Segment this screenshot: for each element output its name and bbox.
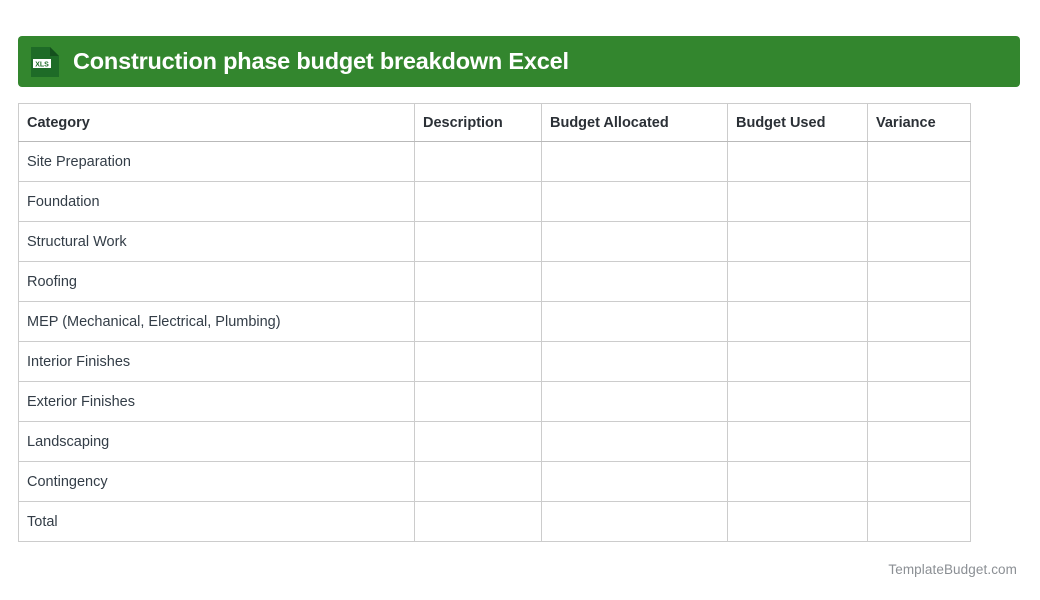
cell-budget-allocated[interactable]: [542, 462, 728, 502]
table-row: Contingency: [19, 462, 971, 502]
cell-description[interactable]: [415, 502, 542, 542]
document-header-banner: XLS Construction phase budget breakdown …: [18, 36, 1020, 87]
cell-variance[interactable]: [868, 422, 971, 462]
cell-category[interactable]: Exterior Finishes: [19, 382, 415, 422]
cell-budget-allocated[interactable]: [542, 422, 728, 462]
table-row: Exterior Finishes: [19, 382, 971, 422]
cell-variance[interactable]: [868, 182, 971, 222]
cell-variance[interactable]: [868, 262, 971, 302]
cell-budget-allocated[interactable]: [542, 302, 728, 342]
cell-description[interactable]: [415, 462, 542, 502]
column-header-category: Category: [19, 104, 415, 142]
cell-category[interactable]: Foundation: [19, 182, 415, 222]
column-header-variance: Variance: [868, 104, 971, 142]
cell-variance[interactable]: [868, 502, 971, 542]
table-body: Site Preparation Foundation Structural W…: [19, 142, 971, 542]
cell-category[interactable]: Total: [19, 502, 415, 542]
cell-budget-used[interactable]: [728, 342, 868, 382]
table-row: Interior Finishes: [19, 342, 971, 382]
table-header-row: Category Description Budget Allocated Bu…: [19, 104, 971, 142]
cell-budget-used[interactable]: [728, 222, 868, 262]
cell-category[interactable]: Site Preparation: [19, 142, 415, 182]
table-header: Category Description Budget Allocated Bu…: [19, 104, 971, 142]
cell-budget-allocated[interactable]: [542, 262, 728, 302]
cell-budget-used[interactable]: [728, 462, 868, 502]
table-row: Roofing: [19, 262, 971, 302]
cell-budget-used[interactable]: [728, 142, 868, 182]
cell-description[interactable]: [415, 262, 542, 302]
cell-description[interactable]: [415, 222, 542, 262]
cell-description[interactable]: [415, 342, 542, 382]
cell-description[interactable]: [415, 182, 542, 222]
page-title: Construction phase budget breakdown Exce…: [73, 50, 569, 74]
table-row: Foundation: [19, 182, 971, 222]
cell-description[interactable]: [415, 422, 542, 462]
cell-variance[interactable]: [868, 462, 971, 502]
cell-budget-used[interactable]: [728, 422, 868, 462]
cell-variance[interactable]: [868, 342, 971, 382]
cell-variance[interactable]: [868, 302, 971, 342]
cell-category[interactable]: Interior Finishes: [19, 342, 415, 382]
cell-description[interactable]: [415, 382, 542, 422]
column-header-budget-used: Budget Used: [728, 104, 868, 142]
cell-budget-used[interactable]: [728, 382, 868, 422]
cell-budget-used[interactable]: [728, 182, 868, 222]
cell-variance[interactable]: [868, 142, 971, 182]
cell-variance[interactable]: [868, 222, 971, 262]
footer-brand: TemplateBudget.com: [888, 562, 1017, 577]
column-header-description: Description: [415, 104, 542, 142]
cell-description[interactable]: [415, 142, 542, 182]
cell-budget-used[interactable]: [728, 502, 868, 542]
cell-budget-allocated[interactable]: [542, 142, 728, 182]
table-row: Landscaping: [19, 422, 971, 462]
column-header-budget-allocated: Budget Allocated: [542, 104, 728, 142]
template-page: XLS Construction phase budget breakdown …: [0, 0, 1040, 600]
table-row: MEP (Mechanical, Electrical, Plumbing): [19, 302, 971, 342]
cell-description[interactable]: [415, 302, 542, 342]
table-row: Site Preparation: [19, 142, 971, 182]
svg-text:XLS: XLS: [35, 61, 49, 68]
xls-file-icon: XLS: [30, 46, 60, 78]
cell-budget-used[interactable]: [728, 302, 868, 342]
cell-budget-allocated[interactable]: [542, 182, 728, 222]
cell-budget-allocated[interactable]: [542, 342, 728, 382]
cell-variance[interactable]: [868, 382, 971, 422]
cell-budget-allocated[interactable]: [542, 382, 728, 422]
cell-category[interactable]: Landscaping: [19, 422, 415, 462]
cell-budget-allocated[interactable]: [542, 502, 728, 542]
table-row-total: Total: [19, 502, 971, 542]
cell-category[interactable]: Structural Work: [19, 222, 415, 262]
cell-category[interactable]: MEP (Mechanical, Electrical, Plumbing): [19, 302, 415, 342]
table-row: Structural Work: [19, 222, 971, 262]
budget-breakdown-table: Category Description Budget Allocated Bu…: [18, 103, 971, 542]
cell-budget-used[interactable]: [728, 262, 868, 302]
cell-budget-allocated[interactable]: [542, 222, 728, 262]
cell-category[interactable]: Contingency: [19, 462, 415, 502]
cell-category[interactable]: Roofing: [19, 262, 415, 302]
